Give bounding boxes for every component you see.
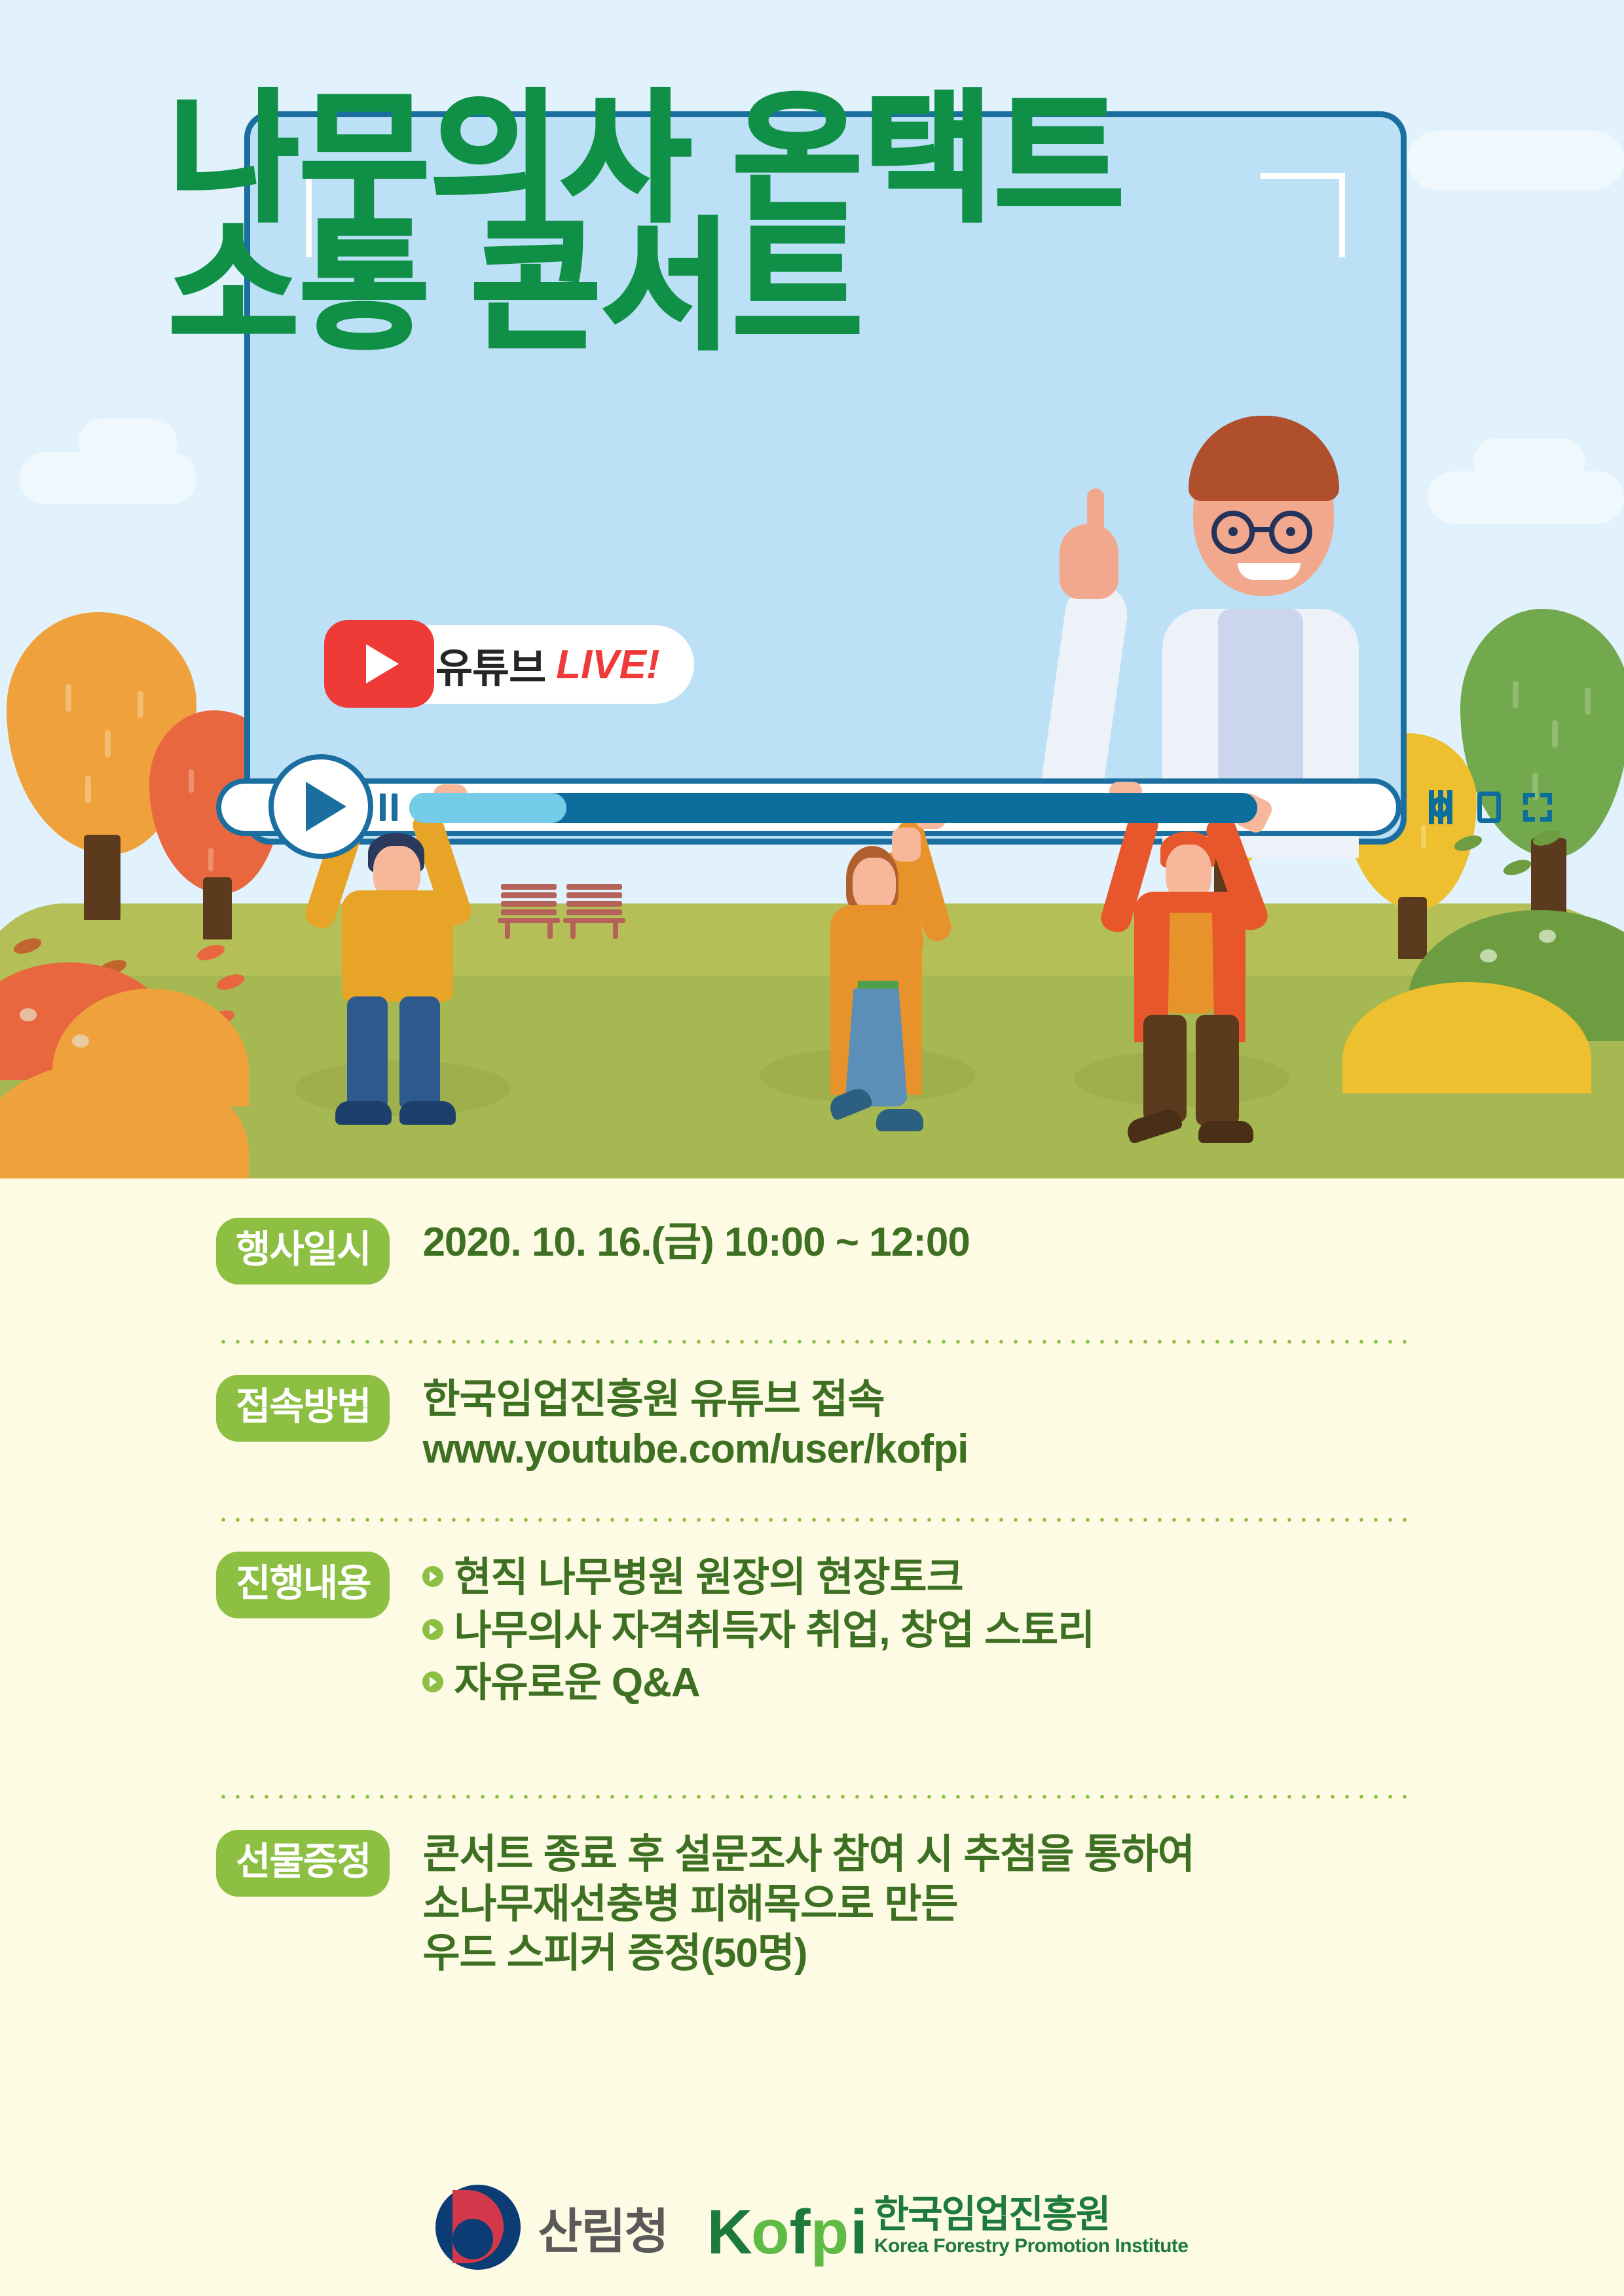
- player-controls[interactable]: [1426, 792, 1552, 823]
- poster-title-line-2: 소통 콘서트: [169, 216, 864, 357]
- person-leg: [347, 996, 388, 1111]
- badge-program: 진행내용: [216, 1552, 390, 1618]
- live-badge-en-label: LIVE!: [556, 642, 659, 688]
- kofpi-name-block: 한국임업진흥원 Korea Forestry Promotion Institu…: [874, 2194, 1189, 2257]
- info-row-date-text: 2020. 10. 16.(금) 10:00 ~ 12:00: [422, 1218, 969, 1267]
- bush-dot: [1539, 930, 1556, 943]
- divider-1: [216, 1339, 1408, 1345]
- bullet-icon: [422, 1671, 443, 1692]
- program-item-2: 나무의사 자격취득자 취업, 창업 스토리: [454, 1605, 1094, 1658]
- footer-logos: 산림청 K o f p i 한국임업진흥원 Korea Forestry Pro…: [0, 2185, 1624, 2270]
- info-row-gift: 선물증정 콘서트 종료 후 설문조사 참여 시 추첨을 통하여 소나무재선충병 …: [216, 1830, 1194, 1978]
- person-leg: [1196, 1015, 1239, 1126]
- cloud-top-right: [1408, 131, 1624, 190]
- person-shoe: [876, 1109, 923, 1131]
- screen-icon[interactable]: [1477, 792, 1501, 823]
- doctor-eye-right: [1286, 527, 1295, 536]
- program-bullet-list: 현직 나무병원 원장의 현장토크 나무의사 자격취득자 취업, 창업 스토리 자…: [422, 1552, 1094, 1710]
- kofpi-logo: K o f p i 한국임업진흥원 Korea Forestry Promoti…: [707, 2194, 1189, 2261]
- video-progress-bar[interactable]: [409, 793, 1257, 823]
- doctor-shirt: [1218, 609, 1303, 805]
- kofpi-letter-f: f: [790, 2204, 808, 2261]
- program-item-1: 현직 나무병원 원장의 현장토크: [454, 1552, 963, 1605]
- frame-corner-top-right: [1261, 173, 1345, 257]
- gear-icon[interactable]: [1426, 793, 1455, 822]
- doctor-finger: [1087, 488, 1104, 551]
- info-row-access: 접속방법 한국임업진흥원 유튜브 접속 www.youtube.com/user…: [216, 1375, 968, 1474]
- audience-person-right: [1100, 818, 1277, 1093]
- bush-dot: [72, 1034, 89, 1048]
- bullet-icon: [422, 1619, 443, 1640]
- play-icon: [306, 782, 346, 831]
- access-channel: 한국임업진흥원 유튜브 접속: [422, 1375, 968, 1425]
- kofpi-letter-o: o: [751, 2204, 787, 2261]
- doctor-eye-left: [1228, 527, 1238, 536]
- badge-date: 행사일시: [216, 1218, 390, 1285]
- person-hand: [892, 828, 921, 862]
- kofpi-korean-name: 한국임업진흥원: [874, 2194, 1189, 2236]
- access-url[interactable]: www.youtube.com/user/kofpi: [422, 1425, 968, 1474]
- forest-service-label: 산림청: [538, 2193, 667, 2263]
- person-shoe: [335, 1101, 392, 1125]
- person-leg: [1143, 1015, 1187, 1123]
- person-shoe: [399, 1101, 456, 1125]
- person-head: [853, 858, 896, 911]
- divider-3: [216, 1794, 1408, 1800]
- bush-dot: [1480, 949, 1497, 962]
- forest-service-logo: 산림청: [435, 2185, 667, 2270]
- bullet-icon: [422, 1566, 443, 1587]
- person-top: [342, 890, 453, 1002]
- gift-line-1: 콘서트 종료 후 설문조사 참여 시 추첨을 통하여: [422, 1830, 1194, 1880]
- info-row-gift-text: 콘서트 종료 후 설문조사 참여 시 추첨을 통하여 소나무재선충병 피해목으로…: [422, 1830, 1194, 1978]
- list-item: 현직 나무병원 원장의 현장토크: [422, 1552, 1094, 1605]
- audience-person-left: [308, 818, 478, 1093]
- cloud-right-2: [1473, 439, 1585, 484]
- park-bench-right: [563, 884, 625, 936]
- program-item-3: 자유로운 Q&A: [454, 1657, 699, 1710]
- hero-illustration: 나무의사 온택트 소통 콘서트 유튜브 LIVE!: [0, 0, 1624, 1178]
- event-poster: 나무의사 온택트 소통 콘서트 유튜브 LIVE!: [0, 0, 1624, 2296]
- list-item: 자유로운 Q&A: [422, 1657, 1094, 1710]
- audience-person-center: [825, 831, 976, 1106]
- play-button[interactable]: [268, 754, 373, 859]
- video-progress-filled: [409, 793, 566, 823]
- bush-dot: [20, 1008, 37, 1021]
- info-row-date: 행사일시 2020. 10. 16.(금) 10:00 ~ 12:00: [216, 1218, 970, 1285]
- doctor-hair: [1189, 416, 1339, 501]
- doctor-arm: [1039, 579, 1131, 802]
- pause-icon[interactable]: [380, 793, 397, 821]
- live-badge-ko-label: 유튜브: [435, 635, 545, 694]
- gift-line-3: 우드 스피커 증정(50명): [422, 1929, 1194, 1978]
- youtube-live-badge: 유튜브 LIVE!: [344, 625, 694, 704]
- list-item: 나무의사 자격취득자 취업, 창업 스토리: [422, 1605, 1094, 1658]
- kofpi-letter-k: K: [707, 2204, 750, 2261]
- kofpi-letter-p: p: [811, 2204, 847, 2261]
- gift-line-2: 소나무재선충병 피해목으로 만든: [422, 1880, 1194, 1929]
- doctor-mouth: [1238, 563, 1301, 580]
- info-section: ✓ ✓ ✓ 행사일시 2020. 10. 16.(: [0, 1178, 1624, 2296]
- taegeuk-icon: [435, 2185, 521, 2270]
- info-row-program-text: 현직 나무병원 원장의 현장토크 나무의사 자격취득자 취업, 창업 스토리 자…: [422, 1552, 1094, 1710]
- youtube-play-icon: [324, 620, 434, 708]
- person-leg: [399, 996, 440, 1111]
- info-row-access-text: 한국임업진흥원 유튜브 접속 www.youtube.com/user/kofp…: [422, 1375, 968, 1474]
- event-datetime: 2020. 10. 16.(금) 10:00 ~ 12:00: [422, 1218, 969, 1267]
- park-bench-left: [498, 884, 560, 936]
- tree-green-right: [1460, 609, 1624, 936]
- badge-access: 접속방법: [216, 1375, 390, 1442]
- divider-2: [216, 1517, 1408, 1523]
- person-shoe: [1198, 1121, 1253, 1143]
- cloud-left-2: [79, 419, 177, 465]
- fullscreen-icon[interactable]: [1523, 793, 1552, 822]
- badge-gift: 선물증정: [216, 1830, 390, 1897]
- kofpi-english-name: Korea Forestry Promotion Institute: [874, 2235, 1189, 2257]
- kofpi-letter-i: i: [850, 2204, 865, 2261]
- doctor-glasses-bridge: [1253, 527, 1270, 532]
- info-row-program: 진행내용 현직 나무병원 원장의 현장토크 나무의사 자격취득자 취업, 창업 …: [216, 1552, 1094, 1710]
- person-inner-shirt: [1164, 896, 1214, 1013]
